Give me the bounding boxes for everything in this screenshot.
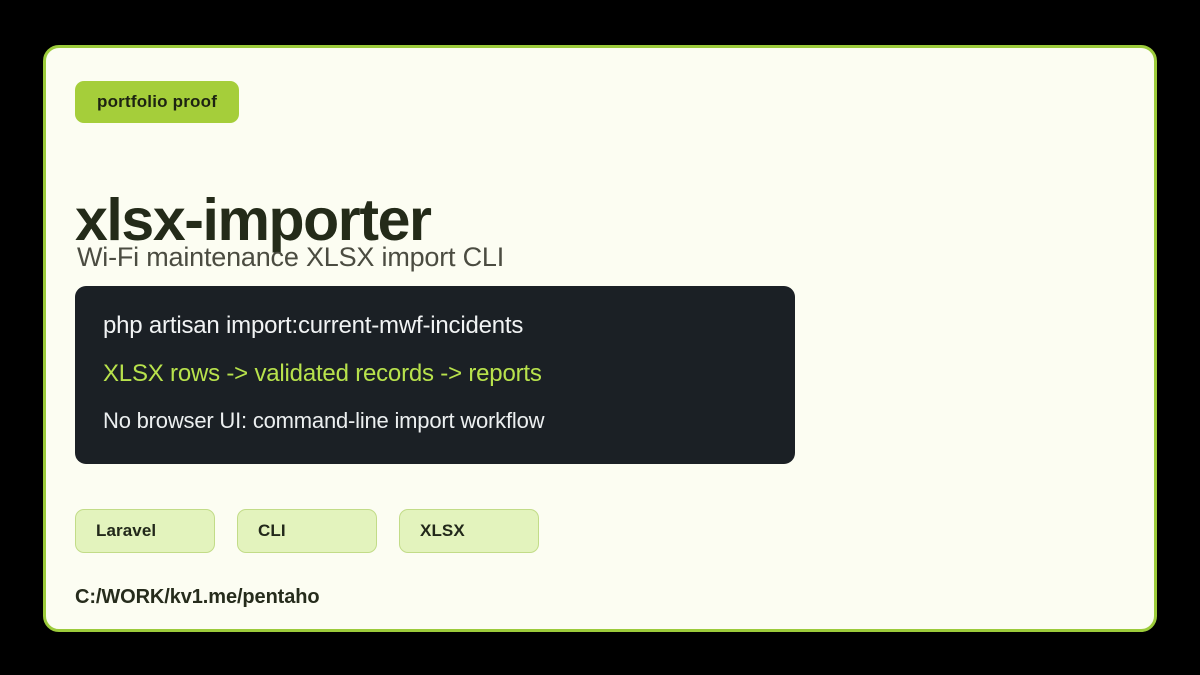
terminal-command-line: php artisan import:current-mwf-incidents xyxy=(103,314,767,338)
tag-chip-laravel[interactable]: Laravel xyxy=(75,509,215,553)
page-subtitle: Wi-Fi maintenance XLSX import CLI xyxy=(77,240,504,275)
status-badge-label: portfolio proof xyxy=(97,92,217,112)
tag-chip-cli[interactable]: CLI xyxy=(237,509,377,553)
page-background: portfolio proof xlsx-importer Wi-Fi main… xyxy=(0,0,1200,675)
terminal-note-line: No browser UI: command-line import workf… xyxy=(103,410,767,432)
project-path: C:/WORK/kv1.me/pentaho xyxy=(75,586,320,609)
terminal-pipeline-line: XLSX rows -> validated records -> report… xyxy=(103,362,767,386)
tag-chip-label: XLSX xyxy=(420,521,465,541)
project-card: portfolio proof xlsx-importer Wi-Fi main… xyxy=(43,45,1157,632)
tag-chip-label: CLI xyxy=(258,521,286,541)
status-badge: portfolio proof xyxy=(75,81,239,123)
terminal-block: php artisan import:current-mwf-incidents… xyxy=(75,286,795,464)
tag-chip-xlsx[interactable]: XLSX xyxy=(399,509,539,553)
tag-chip-label: Laravel xyxy=(96,521,156,541)
tag-chip-list: Laravel CLI XLSX xyxy=(75,509,539,553)
